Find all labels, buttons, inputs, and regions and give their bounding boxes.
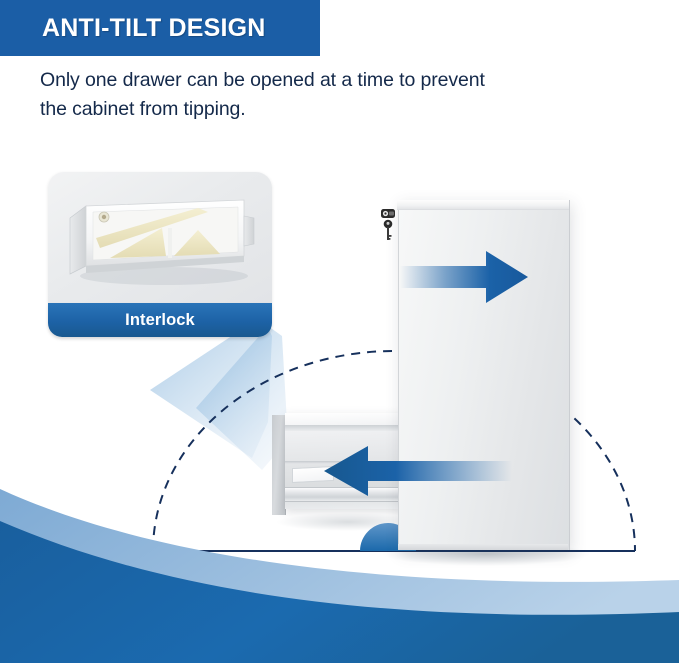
decorative-swoosh-group xyxy=(0,140,679,663)
diagram-scene: Interlock xyxy=(0,140,679,663)
description-line-2: the cabinet from tipping. xyxy=(40,95,580,124)
description-text: Only one drawer can be opened at a time … xyxy=(40,66,580,124)
page-title: ANTI-TILT DESIGN xyxy=(42,14,266,43)
header-banner: ANTI-TILT DESIGN xyxy=(0,0,320,56)
infographic-page: ANTI-TILT DESIGN Only one drawer can be … xyxy=(0,0,679,663)
description-line-1: Only one drawer can be opened at a time … xyxy=(40,66,580,95)
